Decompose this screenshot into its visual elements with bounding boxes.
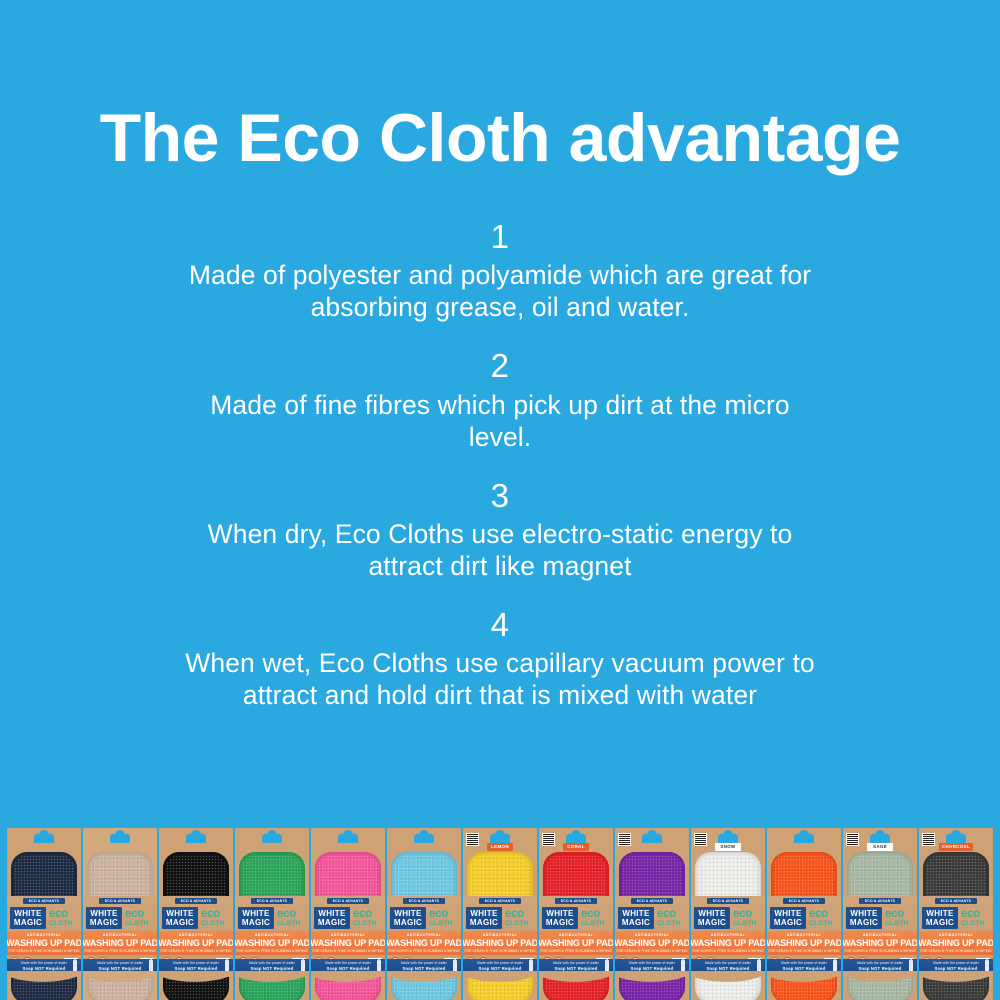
label-top-pill-text: ECO & ADVANTS [935,898,977,904]
band-sub: FOR SCRATCH FREE SCRUBBING & WIPING [312,949,383,954]
pack-color-tag: CHARCOAL [939,843,973,851]
brand-line-2: MAGIC [394,918,422,927]
qr-code-icon[interactable] [694,833,707,846]
band-title: WASHING UP PAD [919,938,993,949]
label-top-pill: ECO & ADVANTS [23,898,65,904]
label-footer: Made with the power of waterSoap NOT Req… [691,959,765,974]
bottle-icon [681,960,685,972]
product-name-band: ANTIBACTERIALWASHING UP PADFOR SCRATCH F… [311,931,385,955]
brand-line-1: WHITE [926,909,953,918]
bottle-icon [301,960,305,972]
bottle-icon [833,960,837,972]
pack-label: ECO & ADVANTSWHITEMAGICecoCLOTHANTIBACTE… [311,896,385,974]
brand-eco-cloth: ecoCLOTH [46,907,78,929]
pack-label: ECO & ADVANTSWHITEMAGICecoCLOTHANTIBACTE… [387,896,461,974]
brand-row: WHITEMAGICecoCLOTH [542,907,610,929]
hang-tab-icon [110,834,130,843]
bottle-icon [149,960,153,972]
label-top-pill-text: ECO & ADVANTS [631,898,673,904]
hang-tab-icon [642,834,662,843]
brand-white-magic: WHITEMAGIC [466,907,502,929]
advantage-number: 3 [0,475,1000,516]
product-pack[interactable]: ECO & ADVANTSWHITEMAGICecoCLOTHANTIBACTE… [235,828,309,1000]
label-top-pill-text: ECO & ADVANTS [859,898,901,904]
brand-eco-cloth: ecoCLOTH [426,907,458,929]
pack-label: ECO & ADVANTSWHITEMAGICecoCLOTHANTIBACTE… [7,896,81,974]
brand-white-magic: WHITEMAGIC [922,907,958,929]
product-name-band: ANTIBACTERIALWASHING UP PADFOR SCRATCH F… [539,931,613,955]
brand-eco-cloth: ecoCLOTH [198,907,230,929]
advantage-number: 1 [0,216,1000,257]
band-kicker: ANTIBACTERIAL [179,933,213,938]
label-top-pill-text: ECO & ADVANTS [99,898,141,904]
product-name-band: ANTIBACTERIALWASHING UP PADFOR SCRATCH F… [919,931,993,955]
advantage-item: 1 Made of polyester and polyamide which … [0,216,1000,323]
label-footer: Made with the power of waterSoap NOT Req… [311,959,385,974]
band-kicker: ANTIBACTERIAL [255,933,289,938]
product-name-band: ANTIBACTERIALWASHING UP PADFOR SCRATCH F… [235,931,309,955]
brand-line-2: MAGIC [166,918,194,927]
hang-tab-icon [794,834,814,843]
pack-label: ECO & ADVANTSWHITEMAGICecoCLOTHANTIBACTE… [919,896,993,974]
label-top-pill-text: ECO & ADVANTS [479,898,521,904]
footer-line-2: Soap NOT Required [327,966,370,972]
bottle-icon [909,960,913,972]
footer-line-2: Soap NOT Required [175,966,218,972]
brand-row: WHITEMAGICecoCLOTH [694,907,762,929]
label-top-pill: ECO & ADVANTS [935,898,977,904]
brand-line-2: MAGIC [698,918,726,927]
advantage-item: 2 Made of fine fibres which pick up dirt… [0,345,1000,452]
brand-white-magic: WHITEMAGIC [238,907,274,929]
advantage-list: 1 Made of polyester and polyamide which … [0,216,1000,712]
qr-code-icon[interactable] [922,833,935,846]
brand-eco-cloth: ecoCLOTH [502,907,534,929]
band-sub: FOR SCRATCH FREE SCRUBBING & WIPING [920,949,991,954]
pack-label: ECO & ADVANTSWHITEMAGICecoCLOTHANTIBACTE… [159,896,233,974]
eco-line-2: CLOTH [505,920,528,928]
brand-white-magic: WHITEMAGIC [770,907,806,929]
advantage-text: When dry, Eco Cloths use electro-static … [180,518,820,582]
product-pack[interactable]: ECO & ADVANTSWHITEMAGICecoCLOTHANTIBACTE… [387,828,461,1000]
hang-tab-icon [870,834,890,843]
brand-line-1: WHITE [850,909,877,918]
product-name-band: ANTIBACTERIALWASHING UP PADFOR SCRATCH F… [615,931,689,955]
band-title: WASHING UP PAD [235,938,309,949]
brand-line-2: MAGIC [318,918,346,927]
product-pack[interactable]: LEMONECO & ADVANTSWHITEMAGICecoCLOTHANTI… [463,828,537,1000]
label-footer: Made with the power of waterSoap NOT Req… [83,959,157,974]
footer-line-2: Soap NOT Required [935,966,978,972]
eco-line-2: CLOTH [125,920,148,928]
label-top-pill: ECO & ADVANTS [175,898,217,904]
band-kicker: ANTIBACTERIAL [103,933,137,938]
band-kicker: ANTIBACTERIAL [331,933,365,938]
brand-eco-cloth: ecoCLOTH [654,907,686,929]
product-name-band: ANTIBACTERIALWASHING UP PADFOR SCRATCH F… [7,931,81,955]
product-name-band: ANTIBACTERIALWASHING UP PADFOR SCRATCH F… [463,931,537,955]
label-top-pill-text: ECO & ADVANTS [707,898,749,904]
brand-line-1: WHITE [14,909,41,918]
pack-label: ECO & ADVANTSWHITEMAGICecoCLOTHANTIBACTE… [539,896,613,974]
bottle-icon [225,960,229,972]
advantage-text: Made of polyester and polyamide which ar… [180,259,820,323]
advantage-number: 2 [0,345,1000,386]
band-sub: FOR SCRATCH FREE SCRUBBING & WIPING [160,949,231,954]
label-footer: Made with the power of waterSoap NOT Req… [615,959,689,974]
band-kicker: ANTIBACTERIAL [559,933,593,938]
band-title: WASHING UP PAD [691,938,765,949]
product-pack[interactable]: ECO & ADVANTSWHITEMAGICecoCLOTHANTIBACTE… [83,828,157,1000]
brand-line-1: WHITE [394,909,421,918]
brand-eco-cloth: ecoCLOTH [730,907,762,929]
brand-row: WHITEMAGICecoCLOTH [238,907,306,929]
band-sub: FOR SCRATCH FREE SCRUBBING & WIPING [236,949,307,954]
footer-line-2: Soap NOT Required [783,966,826,972]
product-pack[interactable]: ECO & ADVANTSWHITEMAGICecoCLOTHANTIBACTE… [159,828,233,1000]
band-title: WASHING UP PAD [463,938,537,949]
qr-code-icon[interactable] [466,833,479,846]
brand-line-1: WHITE [166,909,193,918]
band-sub: FOR SCRATCH FREE SCRUBBING & WIPING [84,949,155,954]
brand-eco-cloth: ecoCLOTH [122,907,154,929]
brand-eco-cloth: ecoCLOTH [882,907,914,929]
brand-row: WHITEMAGICecoCLOTH [770,907,838,929]
band-sub: FOR SCRATCH FREE SCRUBBING & WIPING [8,949,79,954]
eco-line-2: CLOTH [657,920,680,928]
label-footer: Made with the power of waterSoap NOT Req… [235,959,309,974]
footer-line-2: Soap NOT Required [859,966,902,972]
band-kicker: ANTIBACTERIAL [939,933,973,938]
brand-white-magic: WHITEMAGIC [694,907,730,929]
brand-white-magic: WHITEMAGIC [10,907,46,929]
qr-code-icon[interactable] [846,833,859,846]
brand-eco-cloth: ecoCLOTH [274,907,306,929]
pack-label: ECO & ADVANTSWHITEMAGICecoCLOTHANTIBACTE… [843,896,917,974]
band-sub: FOR SCRATCH FREE SCRUBBING & WIPING [464,949,535,954]
brand-row: WHITEMAGICecoCLOTH [162,907,230,929]
product-pack[interactable]: ECO & ADVANTSWHITEMAGICecoCLOTHANTIBACTE… [767,828,841,1000]
band-title: WASHING UP PAD [615,938,689,949]
hang-tab-icon [414,834,434,843]
product-name-band: ANTIBACTERIALWASHING UP PADFOR SCRATCH F… [691,931,765,955]
pack-label: ECO & ADVANTSWHITEMAGICecoCLOTHANTIBACTE… [463,896,537,974]
label-top-pill: ECO & ADVANTS [783,898,825,904]
eco-line-1: eco [49,909,68,920]
band-title: WASHING UP PAD [387,938,461,949]
label-top-pill-text: ECO & ADVANTS [403,898,445,904]
brand-line-1: WHITE [546,909,573,918]
footer-line-2: Soap NOT Required [99,966,142,972]
advantage-text: Made of fine fibres which pick up dirt a… [180,389,820,453]
eco-line-2: CLOTH [961,920,984,928]
brand-line-2: MAGIC [774,918,802,927]
eco-line-2: CLOTH [49,920,72,928]
pack-label: ECO & ADVANTSWHITEMAGICecoCLOTHANTIBACTE… [235,896,309,974]
eco-line-2: CLOTH [581,920,604,928]
band-sub: FOR SCRATCH FREE SCRUBBING & WIPING [616,949,687,954]
pack-label: ECO & ADVANTSWHITEMAGICecoCLOTHANTIBACTE… [767,896,841,974]
band-sub: FOR SCRATCH FREE SCRUBBING & WIPING [692,949,763,954]
footer-line-2: Soap NOT Required [403,966,446,972]
product-pack[interactable]: CORALECO & ADVANTSWHITEMAGICecoCLOTHANTI… [539,828,613,1000]
brand-line-1: WHITE [318,909,345,918]
brand-line-1: WHITE [470,909,497,918]
eco-line-2: CLOTH [733,920,756,928]
eco-line-2: CLOTH [277,920,300,928]
label-footer: Made with the power of waterSoap NOT Req… [463,959,537,974]
label-top-pill-text: ECO & ADVANTS [251,898,293,904]
hang-tab-icon [946,834,966,843]
bottle-icon [529,960,533,972]
band-kicker: ANTIBACTERIAL [863,933,897,938]
product-name-band: ANTIBACTERIALWASHING UP PADFOR SCRATCH F… [843,931,917,955]
brand-white-magic: WHITEMAGIC [162,907,198,929]
eco-line-1: eco [353,909,372,920]
hang-tab-icon [338,834,358,843]
footer-line-2: Soap NOT Required [251,966,294,972]
product-pack[interactable]: ECO & ADVANTSWHITEMAGICecoCLOTHANTIBACTE… [311,828,385,1000]
pack-color-tag: CORAL [563,843,589,851]
brand-eco-cloth: ecoCLOTH [958,907,990,929]
eco-line-1: eco [961,909,980,920]
page-title: The Eco Cloth advantage [0,104,1000,172]
advantage-item: 4 When wet, Eco Cloths use capillary vac… [0,604,1000,711]
brand-white-magic: WHITEMAGIC [618,907,654,929]
band-kicker: ANTIBACTERIAL [407,933,441,938]
qr-code-icon[interactable] [542,833,555,846]
footer-line-2: Soap NOT Required [707,966,750,972]
eco-line-1: eco [505,909,524,920]
eco-line-1: eco [885,909,904,920]
eco-line-1: eco [581,909,600,920]
pack-color-tag: SNOW [715,843,741,851]
eco-line-2: CLOTH [885,920,908,928]
footer-line-2: Soap NOT Required [555,966,598,972]
bottle-icon [377,960,381,972]
advantage-number: 4 [0,604,1000,645]
hang-tab-icon [566,834,586,843]
label-top-pill-text: ECO & ADVANTS [783,898,825,904]
brand-line-1: WHITE [774,909,801,918]
brand-line-2: MAGIC [14,918,42,927]
footer-line-2: Soap NOT Required [631,966,674,972]
label-top-pill-text: ECO & ADVANTS [175,898,217,904]
pack-label: ECO & ADVANTSWHITEMAGICecoCLOTHANTIBACTE… [83,896,157,974]
pack-color-tag: LEMON [487,843,513,851]
product-pack[interactable]: SAGEECO & ADVANTSWHITEMAGICecoCLOTHANTIB… [843,828,917,1000]
brand-eco-cloth: ecoCLOTH [350,907,382,929]
label-footer: Made with the power of waterSoap NOT Req… [7,959,81,974]
product-name-band: ANTIBACTERIALWASHING UP PADFOR SCRATCH F… [83,931,157,955]
hang-tab-icon [718,834,738,843]
label-top-pill: ECO & ADVANTS [327,898,369,904]
label-footer: Made with the power of waterSoap NOT Req… [539,959,613,974]
band-kicker: ANTIBACTERIAL [787,933,821,938]
band-title: WASHING UP PAD [843,938,917,949]
label-top-pill: ECO & ADVANTS [859,898,901,904]
bottle-icon [757,960,761,972]
brand-row: WHITEMAGICecoCLOTH [846,907,914,929]
pack-label: ECO & ADVANTSWHITEMAGICecoCLOTHANTIBACTE… [615,896,689,974]
label-top-pill: ECO & ADVANTS [99,898,141,904]
brand-row: WHITEMAGICecoCLOTH [390,907,458,929]
band-kicker: ANTIBACTERIAL [27,933,61,938]
pack-label: ECO & ADVANTSWHITEMAGICecoCLOTHANTIBACTE… [691,896,765,974]
label-top-pill: ECO & ADVANTS [479,898,521,904]
product-pack[interactable]: ECO & ADVANTSWHITEMAGICecoCLOTHANTIBACTE… [7,828,81,1000]
advantage-item: 3 When dry, Eco Cloths use electro-stati… [0,475,1000,582]
label-footer: Made with the power of waterSoap NOT Req… [843,959,917,974]
pack-color-tag: SAGE [867,843,893,851]
band-kicker: ANTIBACTERIAL [711,933,745,938]
brand-eco-cloth: ecoCLOTH [806,907,838,929]
brand-row: WHITEMAGICecoCLOTH [86,907,154,929]
qr-code-icon[interactable] [618,833,631,846]
product-pack[interactable]: SNOWECO & ADVANTSWHITEMAGICecoCLOTHANTIB… [691,828,765,1000]
brand-line-2: MAGIC [90,918,118,927]
band-title: WASHING UP PAD [7,938,81,949]
eco-line-1: eco [657,909,676,920]
band-title: WASHING UP PAD [539,938,613,949]
label-top-pill: ECO & ADVANTS [555,898,597,904]
product-name-band: ANTIBACTERIALWASHING UP PADFOR SCRATCH F… [159,931,233,955]
footer-line-2: Soap NOT Required [479,966,522,972]
brand-line-2: MAGIC [242,918,270,927]
brand-white-magic: WHITEMAGIC [314,907,350,929]
band-title: WASHING UP PAD [83,938,157,949]
brand-line-2: MAGIC [622,918,650,927]
label-top-pill-text: ECO & ADVANTS [23,898,65,904]
band-sub: FOR SCRATCH FREE SCRUBBING & WIPING [540,949,611,954]
brand-line-2: MAGIC [470,918,498,927]
band-title: WASHING UP PAD [767,938,841,949]
eco-line-1: eco [201,909,220,920]
brand-row: WHITEMAGICecoCLOTH [618,907,686,929]
label-footer: Made with the power of waterSoap NOT Req… [919,959,993,974]
brand-row: WHITEMAGICecoCLOTH [922,907,990,929]
band-sub: FOR SCRATCH FREE SCRUBBING & WIPING [768,949,839,954]
brand-row: WHITEMAGICecoCLOTH [314,907,382,929]
band-kicker: ANTIBACTERIAL [635,933,669,938]
brand-line-2: MAGIC [850,918,878,927]
label-footer: Made with the power of waterSoap NOT Req… [387,959,461,974]
advantage-text: When wet, Eco Cloths use capillary vacuu… [180,647,820,711]
label-top-pill: ECO & ADVANTS [631,898,673,904]
label-footer: Made with the power of waterSoap NOT Req… [159,959,233,974]
eco-line-2: CLOTH [809,920,832,928]
label-top-pill: ECO & ADVANTS [403,898,445,904]
brand-white-magic: WHITEMAGIC [390,907,426,929]
product-pack[interactable]: CHARCOALECO & ADVANTSWHITEMAGICecoCLOTHA… [919,828,993,1000]
hang-tab-icon [34,834,54,843]
product-pack[interactable]: ECO & ADVANTSWHITEMAGICecoCLOTHANTIBACTE… [615,828,689,1000]
eco-line-2: CLOTH [429,920,452,928]
bottle-icon [73,960,77,972]
bottle-icon [453,960,457,972]
hang-tab-icon [262,834,282,843]
brand-line-1: WHITE [698,909,725,918]
brand-line-2: MAGIC [926,918,954,927]
eco-line-1: eco [809,909,828,920]
label-top-pill: ECO & ADVANTS [707,898,749,904]
eco-line-1: eco [125,909,144,920]
hang-tab-icon [186,834,206,843]
brand-row: WHITEMAGICecoCLOTH [10,907,78,929]
product-strip: ECO & ADVANTSWHITEMAGICecoCLOTHANTIBACTE… [0,818,1000,1000]
footer-line-2: Soap NOT Required [23,966,66,972]
eco-line-2: CLOTH [201,920,224,928]
label-top-pill-text: ECO & ADVANTS [555,898,597,904]
hang-tab-icon [490,834,510,843]
brand-eco-cloth: ecoCLOTH [578,907,610,929]
product-name-band: ANTIBACTERIALWASHING UP PADFOR SCRATCH F… [767,931,841,955]
brand-white-magic: WHITEMAGIC [542,907,578,929]
brand-line-1: WHITE [242,909,269,918]
brand-line-1: WHITE [90,909,117,918]
band-sub: FOR SCRATCH FREE SCRUBBING & WIPING [388,949,459,954]
brand-row: WHITEMAGICecoCLOTH [466,907,534,929]
band-title: WASHING UP PAD [159,938,233,949]
eco-line-1: eco [277,909,296,920]
eco-line-1: eco [429,909,448,920]
band-sub: FOR SCRATCH FREE SCRUBBING & WIPING [844,949,915,954]
band-title: WASHING UP PAD [311,938,385,949]
bottle-icon [605,960,609,972]
brand-line-1: WHITE [622,909,649,918]
band-kicker: ANTIBACTERIAL [483,933,517,938]
brand-white-magic: WHITEMAGIC [86,907,122,929]
brand-line-2: MAGIC [546,918,574,927]
label-footer: Made with the power of waterSoap NOT Req… [767,959,841,974]
product-name-band: ANTIBACTERIALWASHING UP PADFOR SCRATCH F… [387,931,461,955]
bottle-icon [985,960,989,972]
eco-line-2: CLOTH [353,920,376,928]
label-top-pill-text: ECO & ADVANTS [327,898,369,904]
brand-white-magic: WHITEMAGIC [846,907,882,929]
eco-line-1: eco [733,909,752,920]
label-top-pill: ECO & ADVANTS [251,898,293,904]
